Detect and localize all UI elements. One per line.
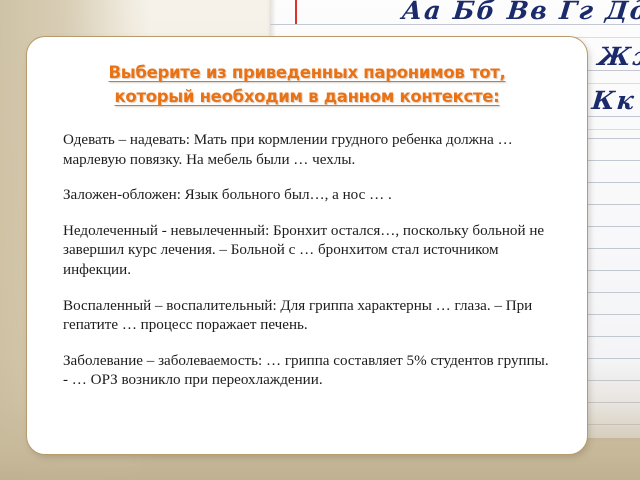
card-title: Выберите из приведенных паронимов тот, к… (27, 37, 587, 109)
slide-canvas: Аа Бб Вв Гг Дд Ее Жж Кк Выберите из прив… (0, 0, 640, 480)
paronym-item: Одевать – надевать: Мать при кормлении г… (63, 131, 553, 170)
paronym-item: Заложен-обложен: Язык больного был…, а н… (63, 186, 553, 206)
paronym-item: Недолеченный - невылеченный: Бронхит ост… (63, 222, 553, 281)
red-margin-line (295, 0, 297, 24)
card-body: Одевать – надевать: Мать при кормлении г… (27, 109, 587, 391)
paronym-item: Воспаленный – воспалительный: Для гриппа… (63, 297, 553, 336)
cursive-alphabet-row-2: Жж (596, 42, 640, 71)
paronym-item: Заболевание – заболеваемость: … гриппа с… (63, 352, 553, 391)
content-card: Выберите из приведенных паронимов тот, к… (26, 36, 588, 455)
cursive-alphabet-row-1: Аа Бб Вв Гг Дд Ее (400, 0, 640, 25)
cursive-alphabet-row-3: Кк (590, 86, 637, 115)
